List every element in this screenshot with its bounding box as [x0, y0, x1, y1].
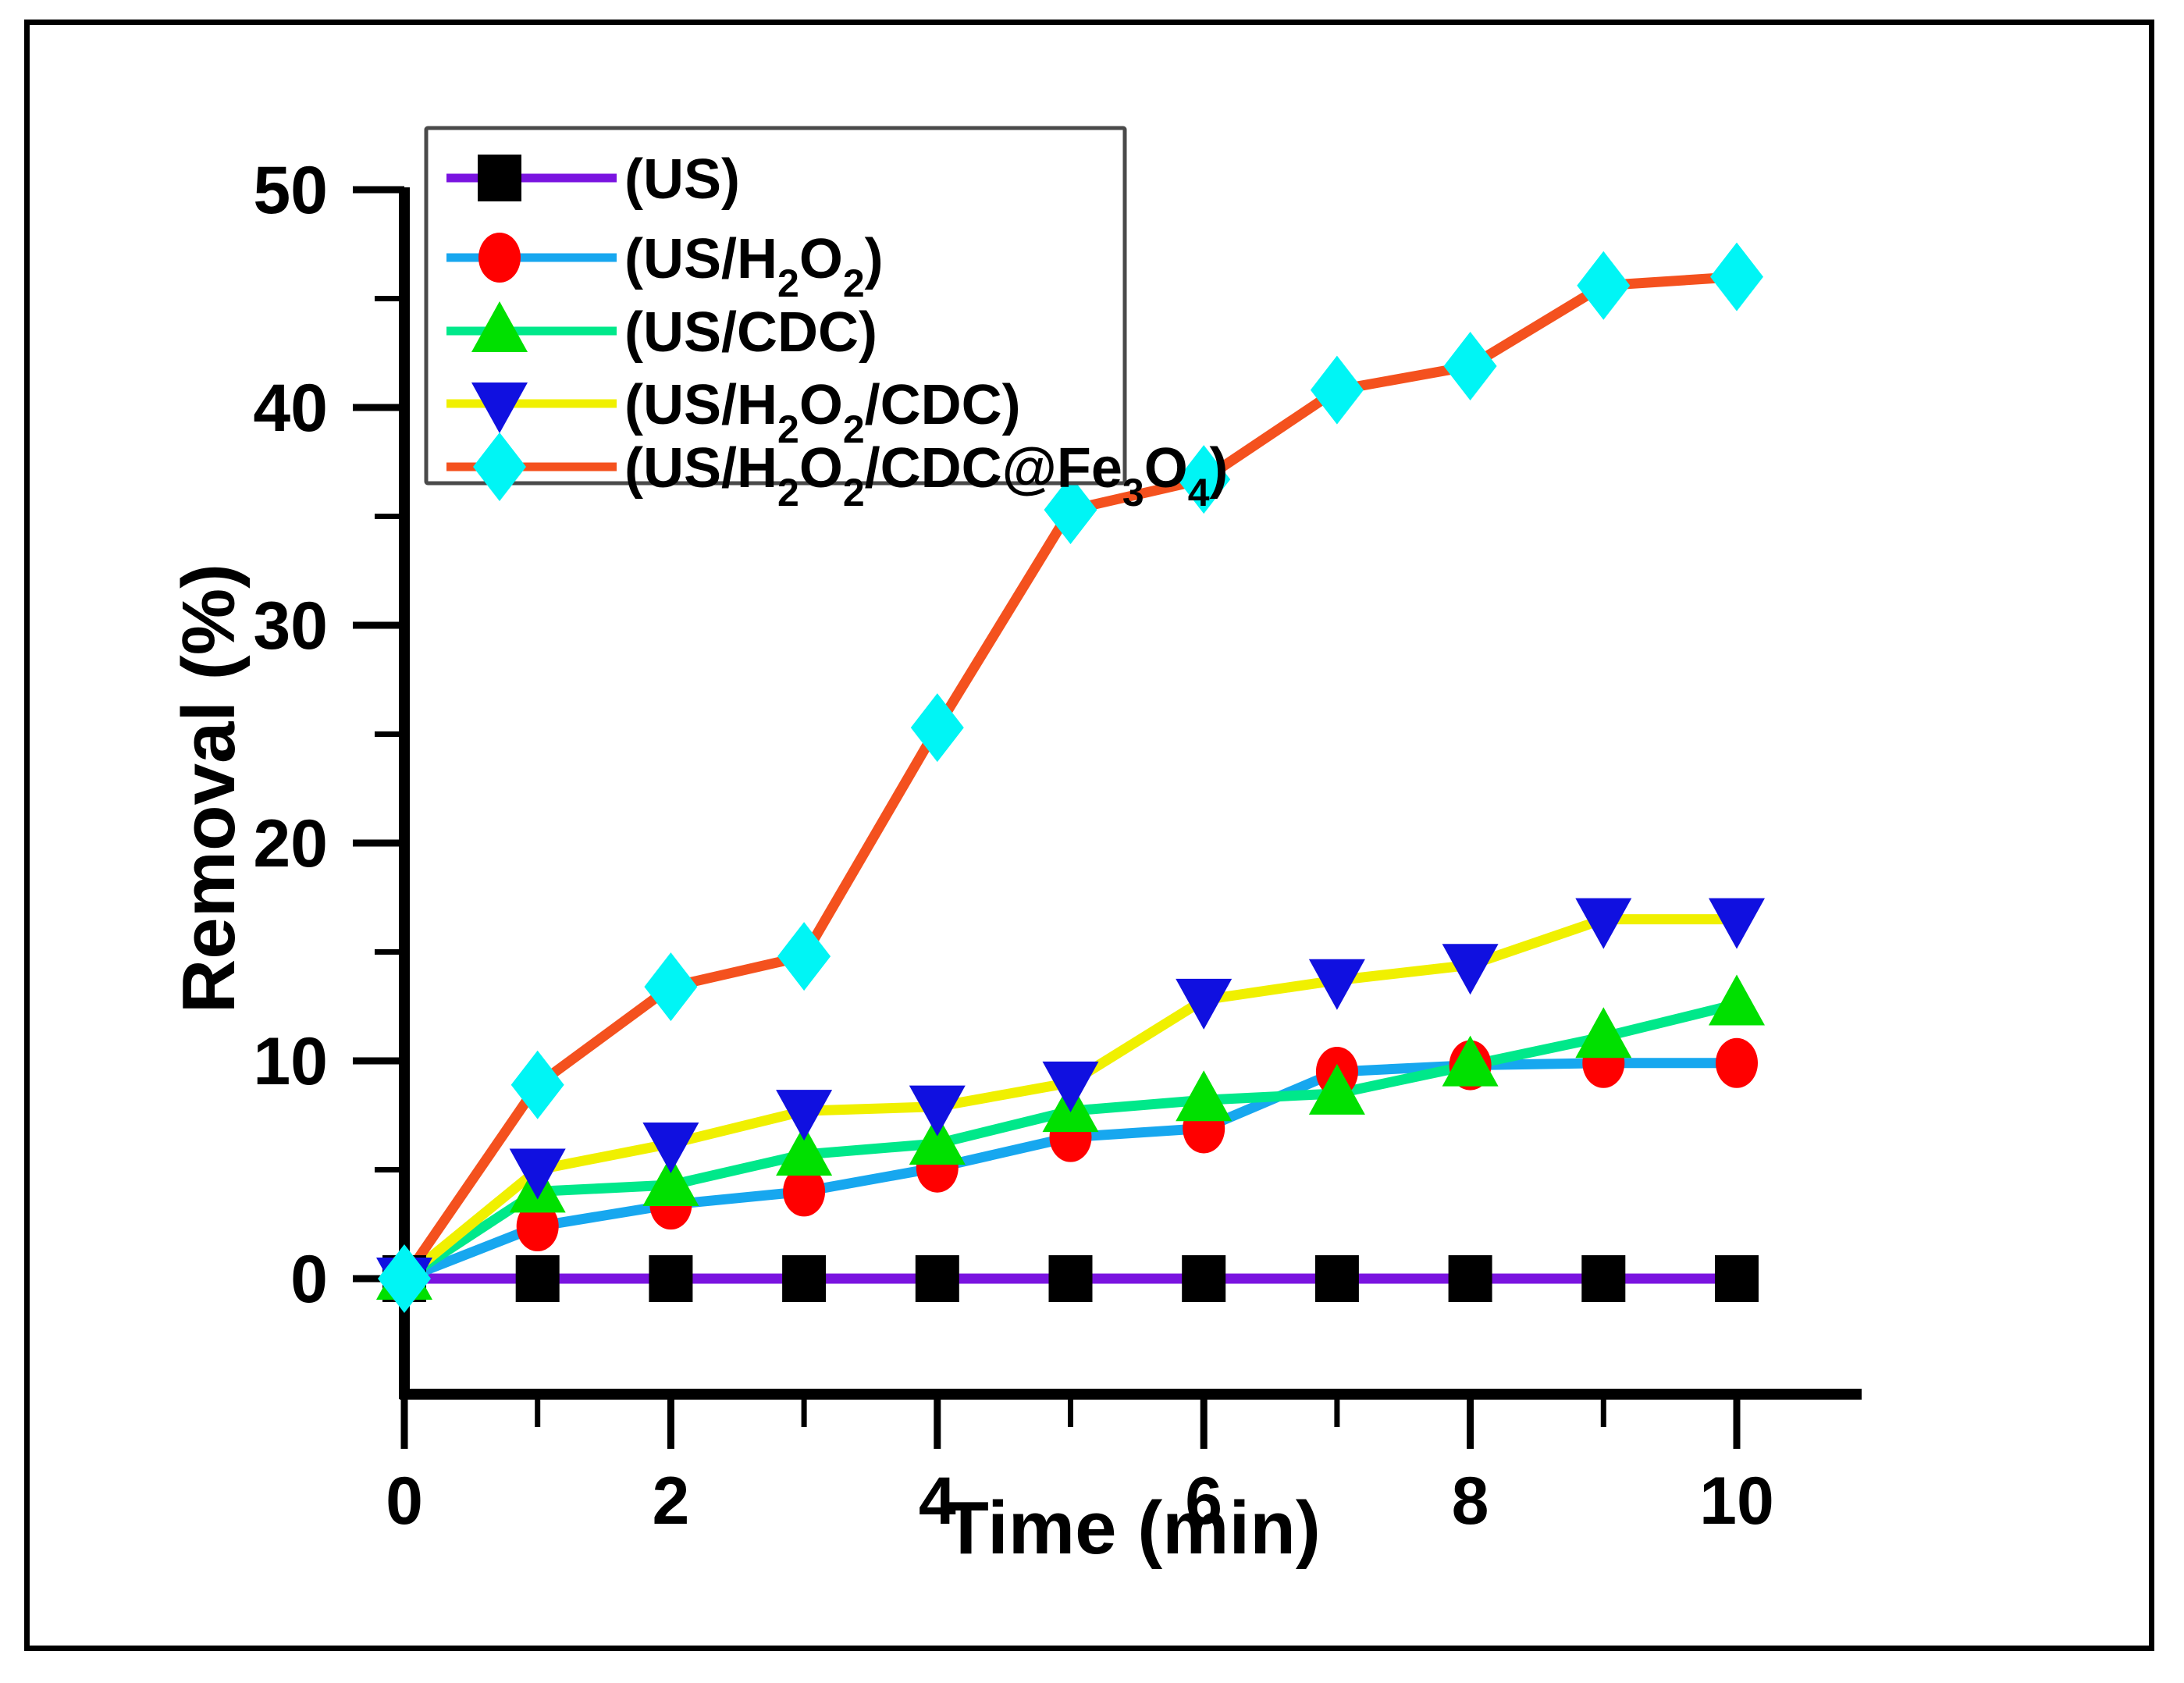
x-tick-label: 10: [1699, 1464, 1774, 1539]
y-tick-label: 0: [290, 1242, 328, 1317]
data-point-0-7: [1315, 1255, 1359, 1302]
y-tick-label: 50: [253, 153, 328, 228]
y-tick-label: 40: [253, 371, 328, 446]
legend[interactable]: (US)(US/H2O2)(US/CDC)(US/H2O2/CDC)(US/H2…: [426, 128, 1229, 514]
data-point-0-6: [1182, 1255, 1225, 1302]
data-point-0-10: [1715, 1255, 1759, 1302]
data-point-4-7: [1311, 356, 1364, 425]
data-point-0-8: [1449, 1255, 1492, 1302]
data-point-4-9: [1577, 251, 1630, 320]
data-point-4-2: [644, 952, 697, 1021]
data-point-0-1: [516, 1255, 560, 1302]
data-point-0-9: [1581, 1255, 1625, 1302]
y-axis-ticks: [353, 190, 404, 1279]
y-tick-label: 20: [253, 806, 328, 881]
chart-plot-area: 01020304050 0246810 Time (min) Removal (…: [0, 0, 2184, 1683]
data-point-0-5: [1049, 1255, 1093, 1302]
x-tick-label: 0: [386, 1464, 423, 1539]
data-point-3-6: [1176, 979, 1232, 1030]
data-point-0-2: [649, 1255, 692, 1302]
data-point-1-10: [1716, 1038, 1758, 1088]
y-tick-label: 30: [253, 589, 328, 664]
legend-label-0: (US): [624, 148, 740, 211]
legend-label-2: (US/CDC): [624, 301, 877, 364]
legend-label-4: (US/H2O2/CDC@Fe3O4): [624, 437, 1229, 514]
data-point-4-10: [1710, 243, 1763, 311]
chart-svg: 01020304050 0246810 Time (min) Removal (…: [0, 0, 2184, 1683]
data-point-0-4: [916, 1255, 959, 1302]
x-tick-label: 2: [652, 1464, 689, 1539]
x-axis-title: Time (min): [943, 1486, 1321, 1570]
data-point-0-3: [782, 1255, 826, 1302]
data-point-2-10: [1709, 974, 1765, 1025]
y-tick-label: 10: [253, 1024, 328, 1099]
x-tick-label: 8: [1452, 1464, 1489, 1539]
data-point-4-8: [1444, 332, 1497, 400]
y-axis-tick-labels: 01020304050: [253, 153, 328, 1317]
legend-marker-1: [478, 233, 521, 283]
legend-marker-0: [478, 155, 521, 201]
y-axis-title: Removal (%): [167, 564, 251, 1013]
x-axis-ticks: [404, 1394, 1737, 1449]
